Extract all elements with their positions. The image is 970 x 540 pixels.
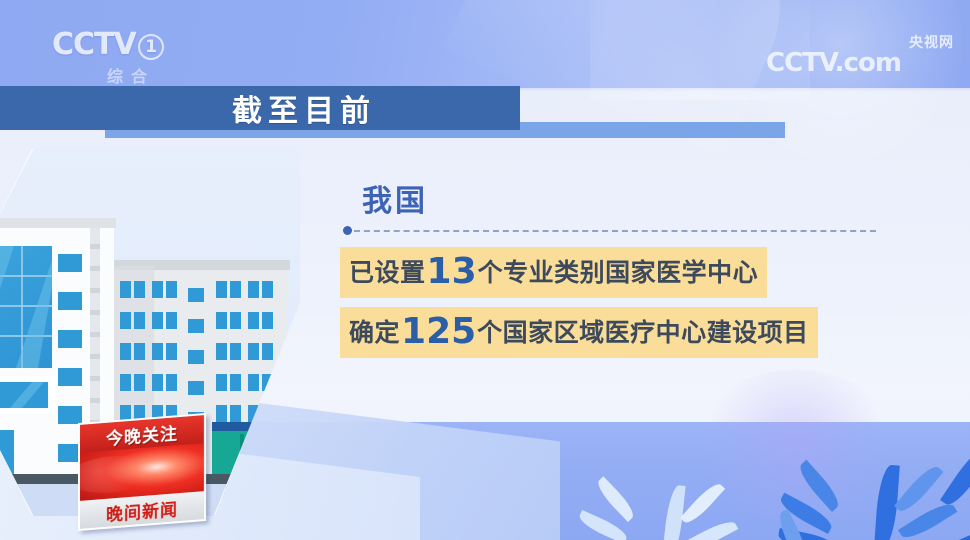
cctv-com-wordmark: CCTV xyxy=(766,48,835,78)
divider-dashed-line xyxy=(354,230,876,232)
program-badge-bottom-label: 晚间新闻 xyxy=(106,495,178,526)
divider-dot-icon xyxy=(343,226,352,235)
copy-line-2: 确定125个国家区域医疗中心建设项目 xyxy=(340,307,818,358)
copy-divider xyxy=(340,222,940,238)
copy-line-2-post: 个国家区域医疗中心建设项目 xyxy=(477,318,809,347)
copy-line-1-row: 已设置13个专业类别国家医学中心 xyxy=(340,247,940,298)
copy-line-1-number: 13 xyxy=(426,251,478,292)
cctv-channel-subtitle: 综合 xyxy=(52,63,202,87)
main-copy-block: 我国 已设置13个专业类别国家医学中心 确定125个国家区域医疗中心建设项目 xyxy=(340,186,940,358)
program-badge-top-label: 今晚关注 xyxy=(106,419,178,450)
cctv-com-watermark: 央视网 CCTV.com xyxy=(766,30,956,80)
program-badge-globe-icon xyxy=(78,443,206,501)
cctv-logo-text: CCTV xyxy=(52,27,136,62)
headline-banner: 截至目前 xyxy=(0,86,520,130)
copy-line-1-post: 个专业类别国家医学中心 xyxy=(478,258,759,287)
cctv-channel-number: 1 xyxy=(138,34,164,60)
cctv-channel-logo: CCTV1 综合 xyxy=(52,30,202,88)
headline-text: 截至目前 xyxy=(232,86,376,130)
copy-line-2-pre: 确定 xyxy=(349,318,400,347)
copy-line-2-row: 确定125个国家区域医疗中心建设项目 xyxy=(340,307,940,358)
cctv-wordmark: CCTV1 xyxy=(52,30,202,60)
broadcast-screen: 截至目前 CCTV1 综合 央视网 CCTV.com 我国 已设置13个专业类别… xyxy=(0,0,970,540)
copy-subject: 我国 xyxy=(340,186,940,218)
copy-line-2-number: 125 xyxy=(400,311,477,352)
program-badge: 今晚关注 晚间新闻 xyxy=(78,413,206,531)
copy-line-1-pre: 已设置 xyxy=(349,258,426,287)
background-blob-purple xyxy=(690,370,900,520)
cctv-com-chinese-name: 央视网 xyxy=(909,32,954,52)
copy-line-1: 已设置13个专业类别国家医学中心 xyxy=(340,247,767,298)
cctv-com-suffix: .com xyxy=(835,48,901,78)
